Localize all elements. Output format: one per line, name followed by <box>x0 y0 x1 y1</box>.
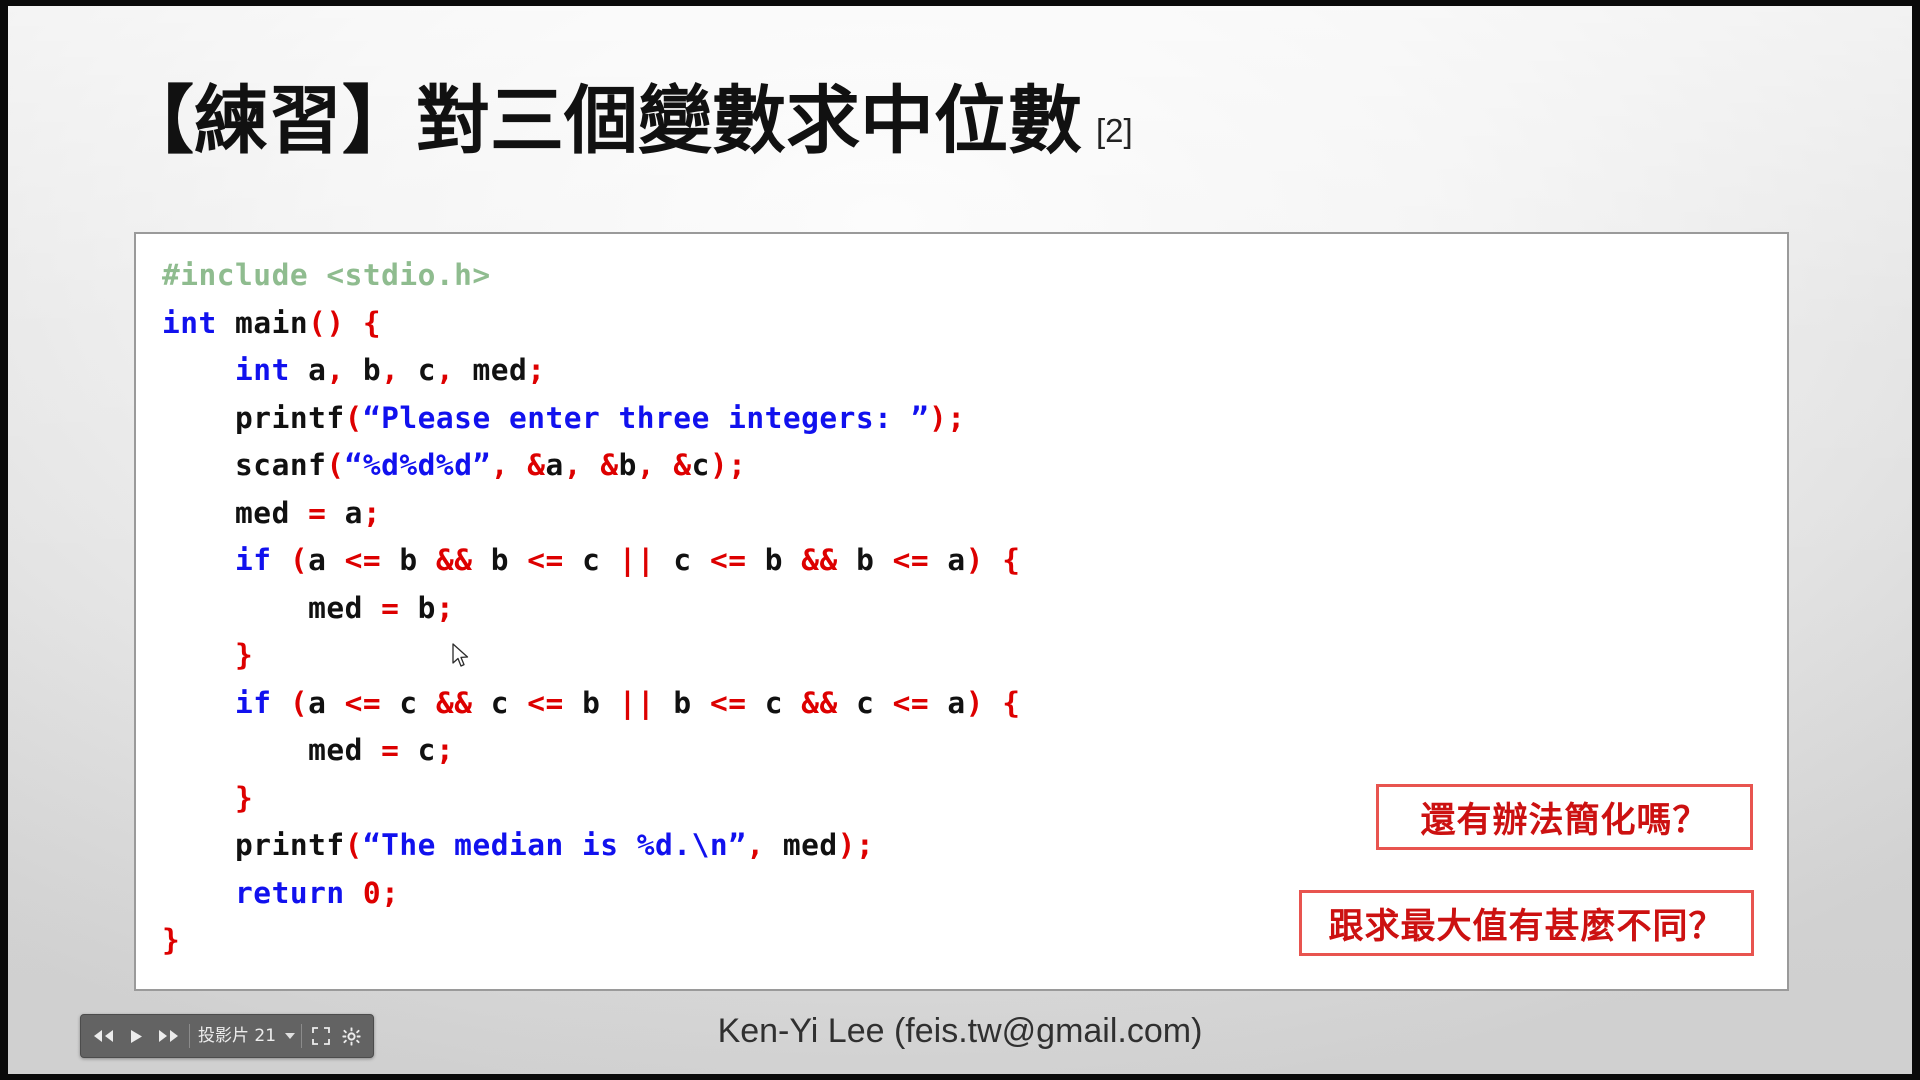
code-token-op: ; <box>947 401 965 435</box>
code-token-op: , <box>326 353 344 387</box>
code-token-op: { <box>1002 686 1020 720</box>
code-line: #include <stdio.h> <box>162 252 1020 300</box>
code-token-plain <box>272 686 290 720</box>
slide-viewport: 【練習】對三個變數求中位數 [2] #include <stdio.h>int … <box>0 0 1920 1080</box>
code-line: } <box>162 632 1020 680</box>
code-token-id: printf <box>162 828 345 862</box>
code-token-op: ; <box>728 448 746 482</box>
code-token-id: b <box>381 543 436 577</box>
code-token-plain <box>162 876 235 910</box>
code-token-id: c <box>399 353 436 387</box>
callout-difference: 跟求最大值有甚麼不同？ <box>1299 890 1754 956</box>
code-token-op: , <box>381 353 399 387</box>
code-token-id: printf <box>162 401 345 435</box>
code-token-id: c <box>381 686 436 720</box>
code-token-plain <box>162 353 235 387</box>
code-token-op: <= <box>893 686 930 720</box>
code-token-id: c <box>473 686 528 720</box>
code-token-id: c <box>655 543 710 577</box>
code-token-id: c <box>564 543 619 577</box>
callout-simplify: 還有辦法簡化嗎？ <box>1376 784 1753 850</box>
code-token-plain <box>272 543 290 577</box>
code-token-op: ; <box>381 876 399 910</box>
code-token-id: a <box>326 496 363 530</box>
code-token-op: && <box>436 686 473 720</box>
code-token-op: { <box>1002 543 1020 577</box>
code-token-op: && <box>801 686 838 720</box>
code-token-id: b <box>564 686 619 720</box>
code-token-op: <= <box>345 686 382 720</box>
code-line: if (a <= b && b <= c || c <= b && b <= a… <box>162 537 1020 585</box>
code-token-id: main <box>217 306 308 340</box>
code-token-plain <box>582 448 600 482</box>
code-token-kw: if <box>235 686 272 720</box>
chevron-down-icon <box>285 1033 295 1039</box>
code-token-op: & <box>600 448 618 482</box>
code-token-plain <box>984 543 1002 577</box>
code-line: printf(“The median is %d.\n”, med); <box>162 822 1020 870</box>
code-token-op: ) <box>966 543 984 577</box>
code-token-op: & <box>673 448 691 482</box>
code-line: } <box>162 775 1020 823</box>
code-token-op: ( <box>345 401 363 435</box>
code-token-op: } <box>235 781 253 815</box>
code-line: int main() { <box>162 300 1020 348</box>
presentation-slide: 【練習】對三個變數求中位數 [2] #include <stdio.h>int … <box>8 6 1912 1074</box>
code-token-id: med <box>162 591 381 625</box>
code-line: scanf(“%d%d%d”, &a, &b, &c); <box>162 442 1020 490</box>
code-token-id: b <box>619 448 637 482</box>
code-token-op: , <box>746 828 764 862</box>
code-token-op: } <box>235 638 253 672</box>
code-token-kw: int <box>235 353 290 387</box>
code-token-op: ) <box>710 448 728 482</box>
code-token-id: c <box>838 686 893 720</box>
code-token-op: = <box>381 733 399 767</box>
code-token-op: <= <box>710 543 747 577</box>
code-line: med = a; <box>162 490 1020 538</box>
code-token-op: ) <box>966 686 984 720</box>
code-token-id: c <box>692 448 710 482</box>
code-token-op: } <box>162 923 180 957</box>
code-token-id: a <box>546 448 564 482</box>
code-token-id: b <box>655 686 710 720</box>
page-title-suffix: [2] <box>1096 112 1133 150</box>
slide-title-row: 【練習】對三個變數求中位數 [2] <box>120 84 1133 158</box>
code-token-op: , <box>637 448 655 482</box>
code-token-plain <box>984 686 1002 720</box>
code-token-id: b <box>838 543 893 577</box>
code-token-id: scanf <box>162 448 326 482</box>
code-token-op: ; <box>527 353 545 387</box>
code-line: printf(“Please enter three integers: ”); <box>162 395 1020 443</box>
code-token-id: c <box>746 686 801 720</box>
code-token-op: ( <box>345 828 363 862</box>
code-token-pre: #include <stdio.h> <box>162 258 491 292</box>
code-token-op: ; <box>363 496 381 530</box>
code-token-op: ; <box>856 828 874 862</box>
code-token-op: <= <box>710 686 747 720</box>
code-token-op: , <box>436 353 454 387</box>
code-token-op: ; <box>436 591 454 625</box>
code-token-op: , <box>564 448 582 482</box>
previous-slide-icon[interactable] <box>87 1019 121 1053</box>
code-token-id: med <box>162 733 381 767</box>
code-token-id: med <box>162 496 308 530</box>
code-line: int a, b, c, med; <box>162 347 1020 395</box>
code-token-plain <box>162 543 235 577</box>
code-token-kw: if <box>235 543 272 577</box>
code-token-plain <box>655 448 673 482</box>
code-token-id: med <box>765 828 838 862</box>
code-token-plain <box>345 306 363 340</box>
code-token-id: a <box>308 543 345 577</box>
code-token-op: ( <box>290 543 308 577</box>
code-token-id: c <box>399 733 436 767</box>
code-token-plain <box>162 638 235 672</box>
code-token-str: “The median is %d.\n” <box>363 828 746 862</box>
code-token-op: ; <box>436 733 454 767</box>
code-token-op: ( <box>326 448 344 482</box>
code-token-op: ) <box>838 828 856 862</box>
code-token-op: && <box>801 543 838 577</box>
code-token-id: b <box>473 543 528 577</box>
page-title: 【練習】對三個變數求中位數 <box>120 84 1082 158</box>
code-token-id: a <box>929 686 966 720</box>
code-token-op: && <box>436 543 473 577</box>
toolbar-divider <box>189 1024 190 1048</box>
code-line: med = b; <box>162 585 1020 633</box>
code-token-kw: return <box>235 876 345 910</box>
code-token-op: <= <box>527 686 564 720</box>
toolbar-divider <box>301 1024 302 1048</box>
fullscreen-icon[interactable] <box>306 1019 336 1053</box>
code-token-id: b <box>746 543 801 577</box>
play-icon[interactable] <box>121 1019 151 1053</box>
code-token-id: a <box>308 686 345 720</box>
slide-counter-dropdown[interactable]: 投影片 21 <box>194 1019 297 1053</box>
code-token-op: <= <box>345 543 382 577</box>
next-slide-icon[interactable] <box>151 1019 185 1053</box>
code-token-num: 0 <box>363 876 381 910</box>
code-token-str: “%d%d%d” <box>345 448 491 482</box>
code-token-op: , <box>491 448 509 482</box>
code-token-id: b <box>399 591 436 625</box>
code-token-op: ( <box>290 686 308 720</box>
code-token-id: a <box>290 353 327 387</box>
slide-counter-label: 投影片 21 <box>196 1028 280 1045</box>
code-token-id: med <box>454 353 527 387</box>
code-token-op: <= <box>527 543 564 577</box>
code-token-op: || <box>619 543 656 577</box>
code-token-op: = <box>381 591 399 625</box>
code-token-op: () <box>308 306 345 340</box>
code-token-plain <box>509 448 527 482</box>
code-token-kw: int <box>162 306 217 340</box>
code-token-op: <= <box>893 543 930 577</box>
code-token-plain <box>162 781 235 815</box>
gear-icon[interactable] <box>336 1019 367 1053</box>
code-listing: #include <stdio.h>int main() { int a, b,… <box>162 252 1020 965</box>
code-token-plain <box>345 876 363 910</box>
code-token-op: { <box>363 306 381 340</box>
code-token-op: = <box>308 496 326 530</box>
code-token-id: a <box>929 543 966 577</box>
code-line: return 0; <box>162 870 1020 918</box>
code-token-id: b <box>345 353 382 387</box>
code-line: med = c; <box>162 727 1020 775</box>
code-token-op: & <box>527 448 545 482</box>
code-token-op: || <box>619 686 656 720</box>
player-toolbar[interactable]: 投影片 21 <box>80 1014 374 1058</box>
code-line: } <box>162 917 1020 965</box>
code-token-plain <box>162 686 235 720</box>
code-token-op: ) <box>929 401 947 435</box>
code-line: if (a <= c && c <= b || b <= c && c <= a… <box>162 680 1020 728</box>
code-token-str: “Please enter three integers: ” <box>363 401 929 435</box>
code-panel: #include <stdio.h>int main() { int a, b,… <box>134 232 1789 991</box>
